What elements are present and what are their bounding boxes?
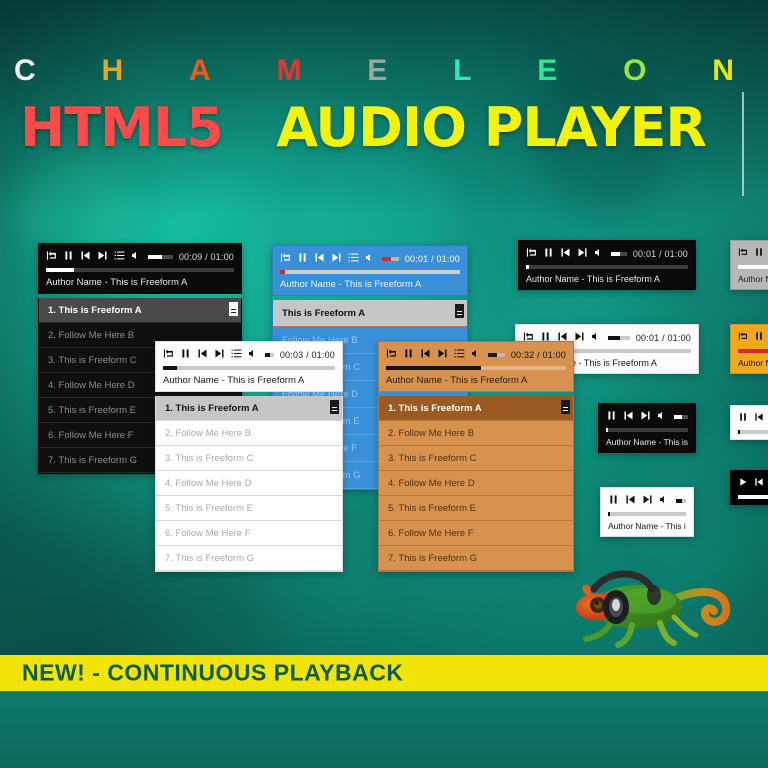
player-white-lower-left-playlist-item-3[interactable]: 3. This is Freeform C bbox=[156, 446, 342, 471]
pause-icon[interactable] bbox=[754, 331, 764, 344]
player-orange-center-playlist-item-6[interactable]: 6. Follow Me Here F bbox=[379, 521, 573, 546]
previous-track-icon[interactable] bbox=[754, 477, 764, 490]
player-white-lower-left-playlist-item-6[interactable]: 6. Follow Me Here F bbox=[156, 521, 342, 546]
player-dark-left-playlist-item-1[interactable]: 1. This is Freeform A bbox=[39, 298, 241, 323]
player-white-mini-right-volume-slider[interactable] bbox=[676, 499, 686, 503]
player-amber-edge-now-playing-label: Author N bbox=[738, 358, 768, 368]
player-black-edge-control-row bbox=[738, 477, 768, 490]
player-white-mini-right-progress-fill bbox=[608, 512, 610, 516]
title-html5: HTML5 bbox=[20, 96, 223, 159]
player-dark-top-right-progress-fill bbox=[526, 265, 529, 269]
player-gray-edge: Author N bbox=[730, 240, 768, 290]
previous-track-icon[interactable] bbox=[623, 410, 634, 424]
next-track-icon[interactable] bbox=[642, 494, 653, 508]
player-white-lower-left-playlist-item-2[interactable]: 2. Follow Me Here B bbox=[156, 421, 342, 446]
player-dark-left-volume-slider[interactable] bbox=[148, 255, 173, 259]
player-gray-edge-controls-panel: Author N bbox=[730, 240, 768, 290]
player-blue-center-volume-slider[interactable] bbox=[382, 257, 399, 261]
pause-icon[interactable] bbox=[608, 494, 619, 508]
player-white-lower-left-volume-level bbox=[265, 353, 270, 357]
pause-icon[interactable] bbox=[606, 410, 617, 424]
previous-track-icon[interactable] bbox=[560, 247, 571, 261]
player-dark-left-volume-level bbox=[148, 255, 162, 259]
player-orange-center-playlist-item-4[interactable]: 4. Follow Me Here D bbox=[379, 471, 573, 496]
player-orange-center-progress-bar[interactable] bbox=[386, 366, 566, 370]
pause-icon[interactable] bbox=[180, 348, 191, 362]
pause-icon[interactable] bbox=[754, 247, 764, 260]
player-white-lower-left-now-playing-label: Author Name - This is Freeform A bbox=[163, 375, 335, 386]
previous-track-icon[interactable] bbox=[314, 252, 325, 266]
pause-icon[interactable] bbox=[297, 252, 308, 266]
volume-icon[interactable] bbox=[657, 410, 668, 424]
volume-icon[interactable] bbox=[659, 494, 670, 508]
player-amber-edge-control-row bbox=[738, 331, 768, 344]
player-amber-edge-controls-panel: Author N bbox=[730, 324, 768, 374]
player-white-mini-right-control-row bbox=[608, 494, 686, 507]
next-track-icon[interactable] bbox=[577, 247, 588, 261]
player-gray-edge-now-playing-label: Author N bbox=[738, 274, 768, 284]
player-orange-center-playlist-item-5[interactable]: 5. This is Freeform E bbox=[379, 496, 573, 521]
pause-icon[interactable] bbox=[543, 247, 554, 261]
player-orange-center-volume-slider[interactable] bbox=[488, 353, 505, 357]
brand-letter-e-4: E bbox=[367, 54, 387, 88]
player-amber-edge-progress-fill bbox=[738, 349, 768, 353]
player-dark-top-right-control-row: 00:01 / 01:00 bbox=[526, 247, 688, 260]
player-blue-center-scroll-handle-icon[interactable] bbox=[455, 304, 464, 318]
player-orange-center-playlist-item-1[interactable]: 1. This is Freeform A bbox=[379, 396, 573, 421]
player-white-edge-control-row bbox=[738, 412, 768, 425]
loop-icon[interactable] bbox=[46, 250, 57, 264]
volume-icon[interactable] bbox=[594, 247, 605, 261]
header-divider-line bbox=[742, 92, 744, 196]
loop-icon[interactable] bbox=[386, 348, 397, 362]
player-blue-center-volume-level bbox=[382, 257, 391, 261]
loop-icon[interactable] bbox=[738, 331, 748, 344]
player-dark-mini-right-controls-panel: Author Name - This is bbox=[598, 403, 696, 453]
page-title: HTML5 AUDIO PLAYER bbox=[20, 96, 706, 159]
play-icon[interactable] bbox=[738, 477, 748, 490]
player-dark-mini-right-volume-slider[interactable] bbox=[674, 415, 688, 419]
player-orange-center-controls-panel: 00:32 / 01:00Author Name - This is Freef… bbox=[378, 341, 574, 392]
brand-kicker: CHAMELEON bbox=[14, 54, 734, 88]
player-orange-center-volume-level bbox=[488, 353, 497, 357]
brand-letter-a-2: A bbox=[189, 54, 211, 88]
promo-banner: NEW! - CONTINUOUS PLAYBACK bbox=[0, 655, 768, 691]
player-dark-top-right-progress-bar[interactable] bbox=[526, 265, 688, 269]
player-white-lower-left-progress-bar[interactable] bbox=[163, 366, 335, 370]
volume-icon[interactable] bbox=[365, 252, 376, 266]
player-orange-center: 00:32 / 01:00Author Name - This is Freef… bbox=[378, 341, 574, 572]
player-dark-top-right-now-playing-label: Author Name - This is Freeform A bbox=[526, 274, 688, 284]
player-orange-center-control-row: 00:32 / 01:00 bbox=[386, 348, 566, 361]
playlist-icon[interactable] bbox=[348, 252, 359, 266]
player-dark-left-scroll-handle-icon[interactable] bbox=[229, 302, 238, 316]
player-dark-mini-right-volume-level bbox=[674, 415, 682, 419]
player-white-mini-right-volume-level bbox=[676, 499, 682, 503]
next-track-icon[interactable] bbox=[437, 348, 448, 362]
player-white-lower-left-volume-slider[interactable] bbox=[265, 353, 274, 357]
volume-icon[interactable] bbox=[248, 348, 259, 362]
volume-icon[interactable] bbox=[131, 250, 142, 264]
player-white-mini-right-progress-bar[interactable] bbox=[608, 512, 686, 516]
loop-icon[interactable] bbox=[163, 348, 174, 362]
player-orange-center-scroll-handle-icon[interactable] bbox=[561, 400, 570, 414]
title-audio-player: AUDIO PLAYER bbox=[276, 96, 706, 159]
player-orange-center-progress-fill bbox=[386, 366, 481, 370]
player-white-lower-left-scroll-handle-icon[interactable] bbox=[330, 400, 339, 414]
brand-letter-n-8: N bbox=[712, 54, 734, 88]
pause-icon[interactable] bbox=[63, 250, 74, 264]
player-blue-center-time-display: 00:01 / 01:00 bbox=[405, 254, 460, 264]
player-orange-center-playlist-item-2[interactable]: 2. Follow Me Here B bbox=[379, 421, 573, 446]
previous-track-icon[interactable] bbox=[197, 348, 208, 362]
player-white-lower-left-playlist-item-4[interactable]: 4. Follow Me Here D bbox=[156, 471, 342, 496]
player-dark-top-right-controls-panel: 00:01 / 01:00Author Name - This is Freef… bbox=[518, 240, 696, 290]
player-blue-center-control-row: 00:01 / 01:00 bbox=[280, 252, 460, 265]
player-white-right-volume-slider[interactable] bbox=[608, 336, 630, 340]
player-black-edge-controls-panel bbox=[730, 470, 768, 505]
player-amber-edge-progress-bar[interactable] bbox=[738, 349, 768, 353]
next-track-icon[interactable] bbox=[574, 331, 585, 345]
player-blue-center-playlist-item-1[interactable]: This is Freeform A bbox=[273, 300, 467, 327]
brand-letter-h-1: H bbox=[101, 54, 123, 88]
player-dark-mini-right: Author Name - This is bbox=[598, 403, 696, 453]
next-track-icon[interactable] bbox=[640, 410, 651, 424]
player-white-edge-progress-fill bbox=[738, 430, 740, 434]
player-white-edge bbox=[730, 405, 768, 440]
player-dark-left-progress-fill bbox=[46, 268, 74, 272]
previous-track-icon[interactable] bbox=[80, 250, 91, 264]
player-dark-top-right-volume-level bbox=[611, 252, 620, 256]
player-gray-edge-control-row bbox=[738, 247, 768, 260]
playlist-icon[interactable] bbox=[231, 348, 242, 362]
player-white-edge-progress-bar[interactable] bbox=[738, 430, 768, 434]
loop-icon[interactable] bbox=[526, 247, 537, 261]
previous-track-icon[interactable] bbox=[754, 412, 764, 425]
player-white-mini-right: Author Name - This i bbox=[600, 487, 694, 537]
player-white-lower-left-playlist-item-7[interactable]: 7. This is Freeform G bbox=[156, 546, 342, 571]
player-orange-center-now-playing-label: Author Name - This is Freeform A bbox=[386, 375, 566, 386]
player-orange-center-playlist-item-7[interactable]: 7. This is Freeform G bbox=[379, 546, 573, 571]
player-white-lower-left-time-display: 00:03 / 01:00 bbox=[280, 350, 335, 360]
brand-letter-e-6: E bbox=[537, 54, 557, 88]
volume-icon[interactable] bbox=[471, 348, 482, 362]
player-dark-mini-right-progress-bar[interactable] bbox=[606, 428, 688, 432]
volume-icon[interactable] bbox=[591, 331, 602, 345]
previous-track-icon[interactable] bbox=[420, 348, 431, 362]
playlist-icon[interactable] bbox=[454, 348, 465, 362]
chameleon-mascot-image bbox=[556, 563, 736, 653]
player-blue-center-now-playing-label: Author Name - This is Freeform A bbox=[280, 279, 460, 290]
player-gray-edge-progress-fill bbox=[738, 265, 768, 269]
player-dark-left-time-display: 00:09 / 01:00 bbox=[179, 252, 234, 262]
player-white-lower-left-playlist-item-5[interactable]: 5. This is Freeform E bbox=[156, 496, 342, 521]
loop-icon[interactable] bbox=[280, 252, 291, 266]
player-gray-edge-progress-bar[interactable] bbox=[738, 265, 768, 269]
player-dark-mini-right-progress-fill bbox=[606, 428, 608, 432]
brand-letter-o-7: O bbox=[623, 54, 646, 88]
player-black-edge-progress-bar[interactable] bbox=[738, 495, 768, 499]
player-orange-center-time-display: 00:32 / 01:00 bbox=[511, 350, 566, 360]
player-dark-left-progress-bar[interactable] bbox=[46, 268, 234, 272]
player-dark-top-right-volume-slider[interactable] bbox=[611, 252, 627, 256]
player-white-lower-left-playlist-item-1[interactable]: 1. This is Freeform A bbox=[156, 396, 342, 421]
player-white-lower-left-playlist: 1. This is Freeform A2. Follow Me Here B… bbox=[155, 396, 343, 572]
player-black-edge-progress-fill bbox=[738, 495, 768, 499]
player-amber-edge: Author N bbox=[730, 324, 768, 374]
title-space bbox=[241, 96, 259, 159]
player-white-lower-left-progress-fill bbox=[163, 366, 177, 370]
player-white-right-volume-level bbox=[608, 336, 620, 340]
brand-letter-l-5: L bbox=[453, 54, 471, 88]
player-dark-mini-right-control-row bbox=[606, 410, 688, 423]
player-black-edge bbox=[730, 470, 768, 505]
loop-icon[interactable] bbox=[738, 247, 748, 260]
playlist-icon[interactable] bbox=[114, 250, 125, 264]
player-white-mini-right-now-playing-label: Author Name - This i bbox=[608, 521, 686, 531]
pause-icon[interactable] bbox=[738, 412, 748, 425]
player-dark-top-right-time-display: 00:01 / 01:00 bbox=[633, 249, 688, 259]
next-track-icon[interactable] bbox=[331, 252, 342, 266]
player-orange-center-playlist: 1. This is Freeform A2. Follow Me Here B… bbox=[378, 396, 574, 572]
next-track-icon[interactable] bbox=[97, 250, 108, 264]
player-dark-top-right: 00:01 / 01:00Author Name - This is Freef… bbox=[518, 240, 696, 290]
player-white-lower-left: 00:03 / 01:00Author Name - This is Freef… bbox=[155, 341, 343, 572]
brand-letter-m-3: M bbox=[276, 54, 301, 88]
player-white-mini-right-controls-panel: Author Name - This i bbox=[600, 487, 694, 537]
player-dark-left-control-row: 00:09 / 01:00 bbox=[46, 250, 234, 263]
player-blue-center-controls-panel: 00:01 / 01:00Author Name - This is Freef… bbox=[272, 245, 468, 296]
player-white-lower-left-control-row: 00:03 / 01:00 bbox=[163, 348, 335, 361]
player-dark-left-controls-panel: 00:09 / 01:00Author Name - This is Freef… bbox=[38, 243, 242, 294]
player-dark-mini-right-now-playing-label: Author Name - This is bbox=[606, 437, 688, 447]
player-white-right-time-display: 00:01 / 01:00 bbox=[636, 333, 691, 343]
player-dark-left-now-playing-label: Author Name - This is Freeform A bbox=[46, 277, 234, 288]
header: CHAMELEON HTML5 AUDIO PLAYER bbox=[0, 40, 768, 170]
player-white-lower-left-controls-panel: 00:03 / 01:00Author Name - This is Freef… bbox=[155, 341, 343, 392]
player-white-edge-controls-panel bbox=[730, 405, 768, 440]
next-track-icon[interactable] bbox=[214, 348, 225, 362]
player-blue-center-progress-fill bbox=[280, 270, 285, 274]
player-blue-center-progress-bar[interactable] bbox=[280, 270, 460, 274]
promo-banner-text: NEW! - CONTINUOUS PLAYBACK bbox=[22, 660, 403, 687]
pause-icon[interactable] bbox=[403, 348, 414, 362]
player-orange-center-playlist-item-3[interactable]: 3. This is Freeform C bbox=[379, 446, 573, 471]
previous-track-icon[interactable] bbox=[625, 494, 636, 508]
brand-letter-c-0: C bbox=[14, 54, 36, 88]
footer-area bbox=[0, 691, 768, 768]
